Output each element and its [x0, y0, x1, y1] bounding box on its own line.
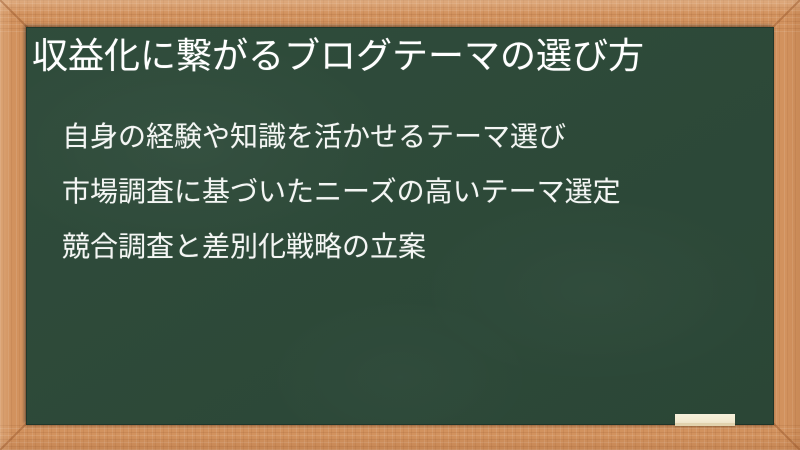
chalk-eraser-felt	[675, 423, 735, 426]
bullet-list: 自身の経験や知識を活かせるテーマ選び 市場調査に基づいたニーズの高いテーマ選定 …	[62, 109, 762, 274]
list-item: 競合調査と差別化戦略の立案	[62, 219, 762, 274]
slide-title: 収益化に繋がるブログテーマの選び方	[32, 31, 768, 81]
list-item: 自身の経験や知識を活かせるテーマ選び	[62, 109, 762, 164]
chalkboard-surface: 収益化に繋がるブログテーマの選び方 自身の経験や知識を活かせるテーマ選び 市場調…	[26, 27, 774, 425]
chalkboard-content: 収益化に繋がるブログテーマの選び方 自身の経験や知識を活かせるテーマ選び 市場調…	[26, 27, 774, 425]
chalk-eraser-icon	[675, 414, 735, 426]
slide-canvas: 収益化に繋がるブログテーマの選び方 自身の経験や知識を活かせるテーマ選び 市場調…	[0, 0, 800, 450]
list-item: 市場調査に基づいたニーズの高いテーマ選定	[62, 164, 762, 219]
